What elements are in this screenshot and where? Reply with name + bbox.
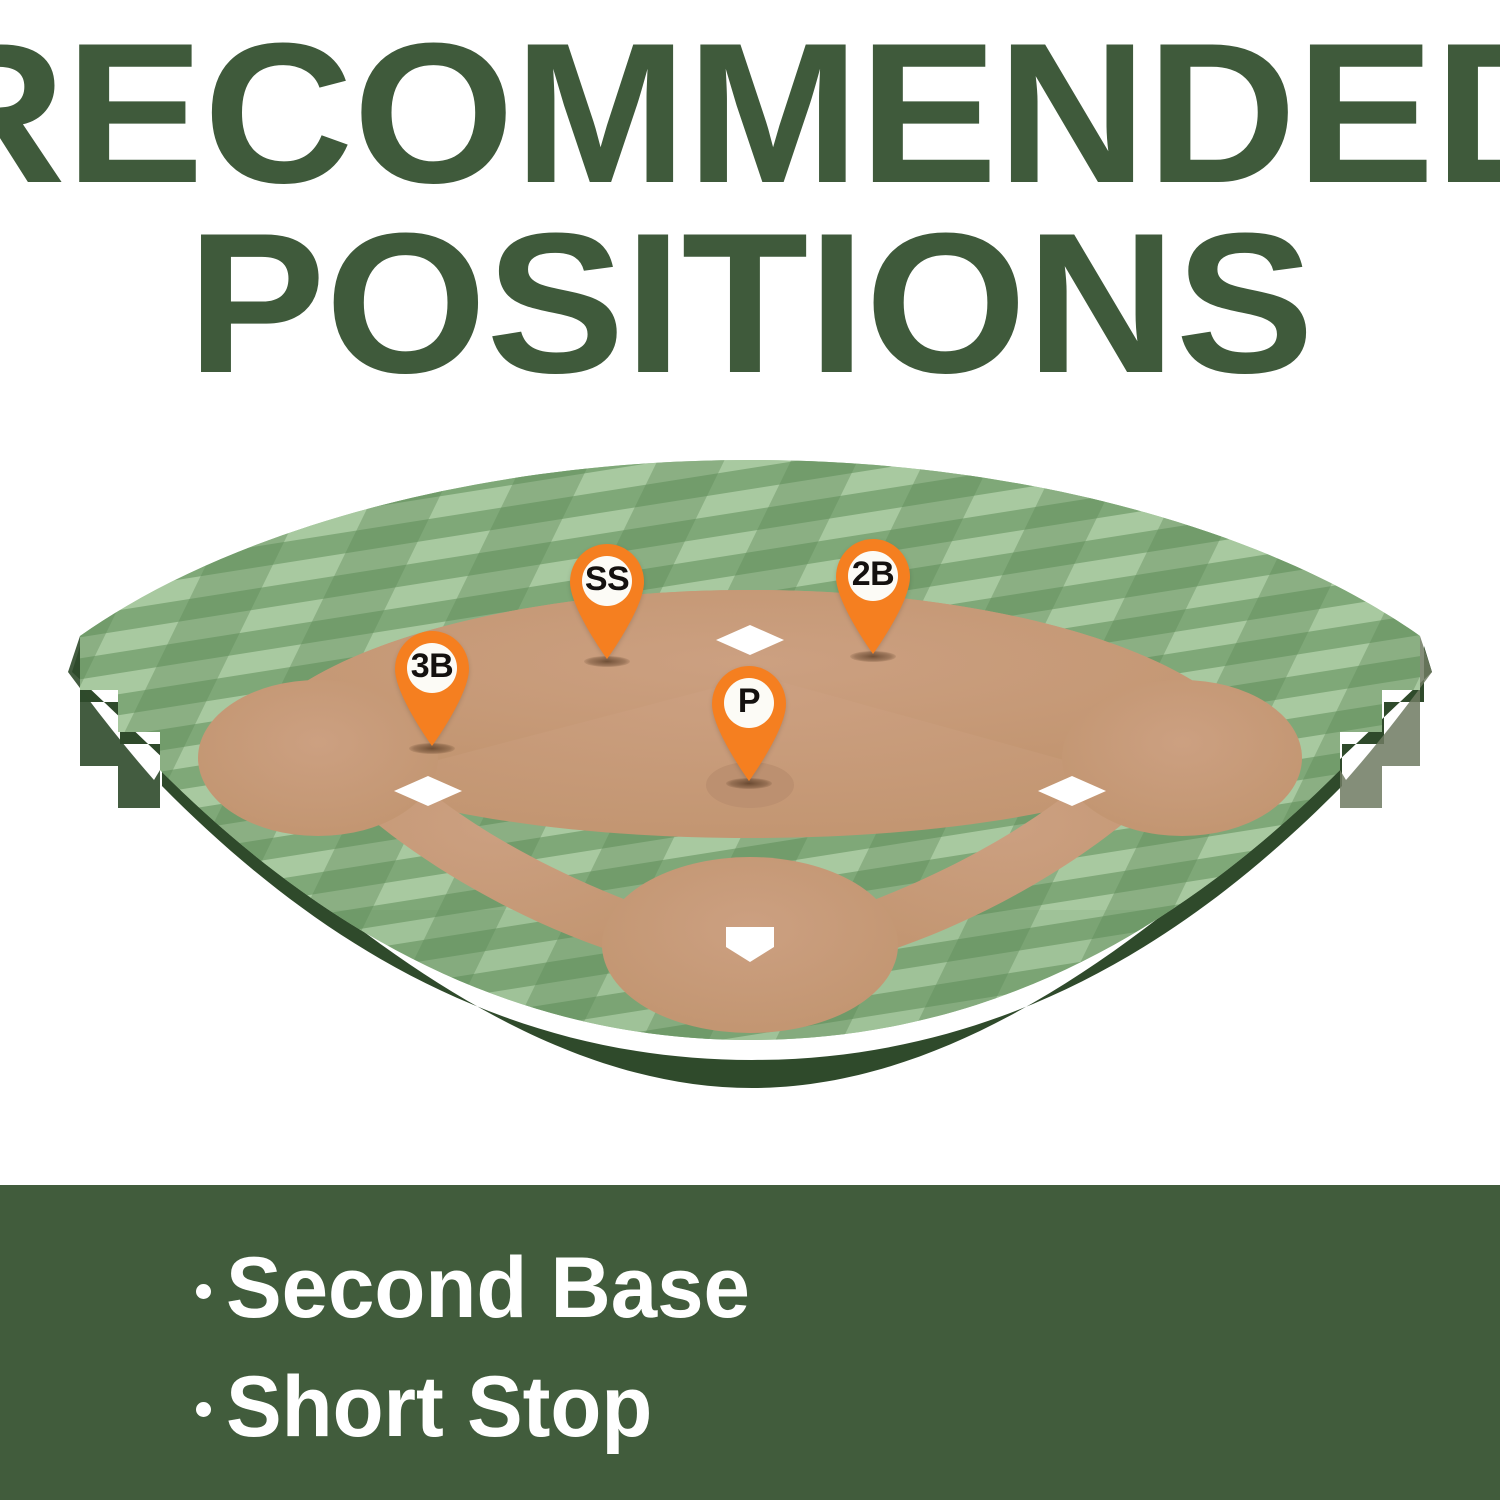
- marker-shortstop[interactable]: SS: [564, 542, 650, 660]
- bullet-icon: [196, 1402, 211, 1417]
- baseball-field-illustration: SS 2B 3B P: [0, 440, 1500, 1140]
- marker-label: P: [706, 670, 792, 732]
- legend-item-third-base[interactable]: Third Base: [766, 1245, 1500, 1331]
- title-line-1: RECOMMENDED: [0, 26, 1500, 202]
- legend-label: Short Stop: [226, 1364, 652, 1450]
- marker-second-base[interactable]: 2B: [830, 537, 916, 655]
- marker-pitcher[interactable]: P: [706, 664, 792, 782]
- positions-legend: Second Base Third Base Short Stop Pitche…: [0, 1185, 1500, 1500]
- page-title: RECOMMENDED POSITIONS: [0, 0, 1500, 440]
- legend-grid: Second Base Third Base Short Stop Pitche…: [0, 1185, 1500, 1500]
- marker-label: SS: [564, 548, 650, 610]
- title-line-2: POSITIONS: [187, 216, 1314, 392]
- grass-surface: [0, 440, 1500, 1140]
- field-svg: [0, 440, 1500, 1140]
- marker-label: 2B: [830, 543, 916, 605]
- legend-item-pitcher[interactable]: Pitcher: [766, 1364, 1500, 1450]
- legend-item-second-base[interactable]: Second Base: [0, 1245, 766, 1331]
- marker-third-base[interactable]: 3B: [389, 629, 475, 747]
- bullet-icon: [196, 1284, 211, 1299]
- legend-label: Second Base: [226, 1245, 750, 1331]
- marker-label: 3B: [389, 635, 475, 697]
- legend-item-short-stop[interactable]: Short Stop: [0, 1364, 766, 1450]
